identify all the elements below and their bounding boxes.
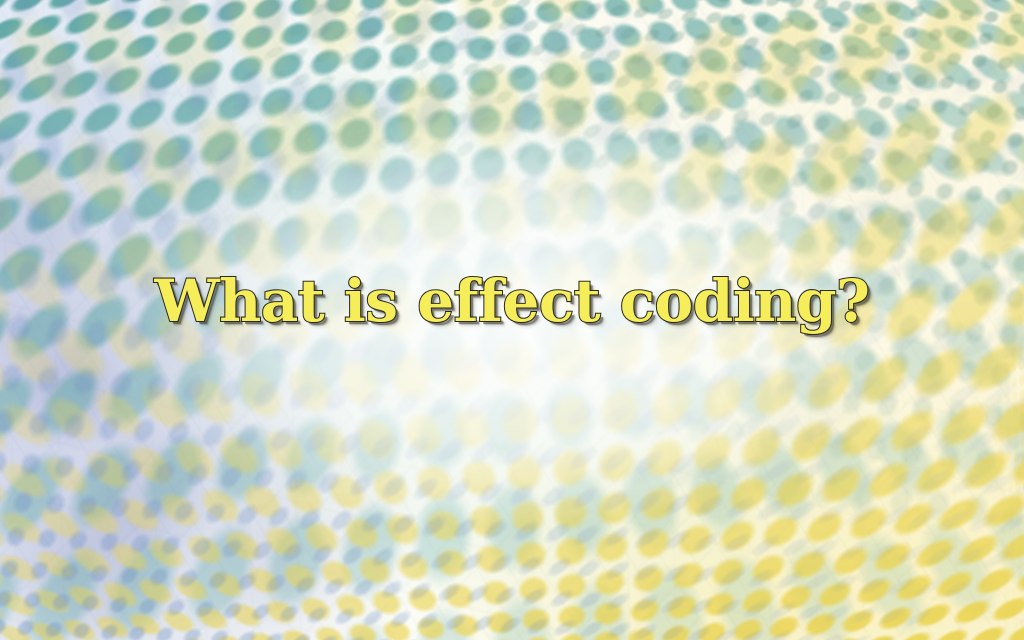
article-header-banner: What is effect coding?	[0, 0, 1024, 640]
halftone-wave-gold-deep-decoration	[928, 32, 1024, 640]
headline-container: What is effect coding?	[0, 272, 1024, 330]
page-title: What is effect coding?	[154, 272, 869, 330]
